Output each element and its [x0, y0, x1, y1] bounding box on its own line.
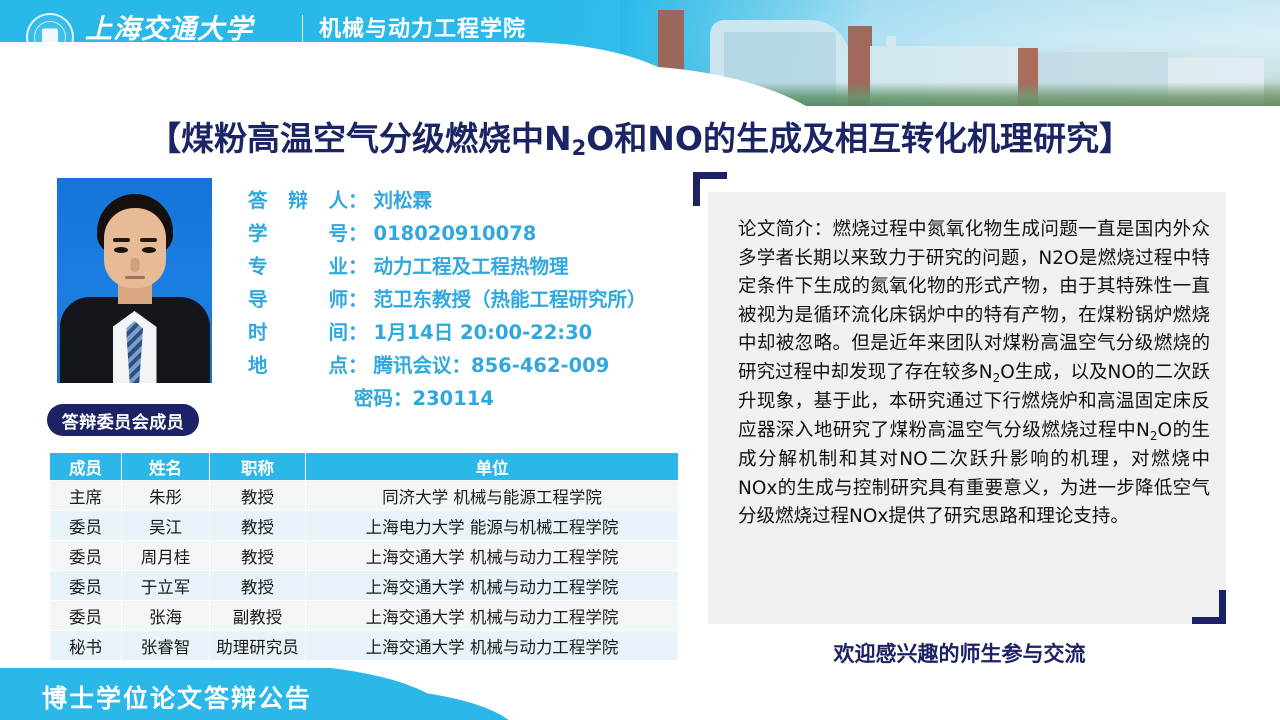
info-row-candidate: 答 辩 人 ： 刘松霖: [248, 184, 647, 217]
info-value-meeting-password: 密码：230114: [248, 382, 647, 415]
table-header-row: 成员 姓名 职称 单位: [50, 453, 679, 481]
school-name-cn: 机械与动力工程学院: [319, 18, 556, 42]
page-title: 【煤粉高温空气分级燃烧中N2O和NO的生成及相互转化机理研究】: [0, 112, 1280, 160]
table-row: 委员 吴江 教授 上海电力大学 能源与机械工程学院: [50, 511, 679, 541]
cell-title: 副教授: [210, 601, 306, 631]
info-colon: ：: [348, 283, 368, 316]
cell-name: 周月桂: [122, 541, 210, 571]
corner-bracket-top-left: [693, 172, 727, 206]
university-name-cn: 上海交通大学: [85, 16, 284, 44]
info-colon: ：: [348, 250, 368, 283]
cell-role: 秘书: [50, 631, 122, 661]
info-label-advisor: 导 师: [248, 283, 348, 316]
table-row: 主席 朱彤 教授 同济大学 机械与能源工程学院: [50, 481, 679, 511]
cell-role: 主席: [50, 481, 122, 511]
cell-unit: 上海交通大学 机械与动力工程学院: [306, 601, 679, 631]
info-value-time: 1月14日 20:00-22:30: [374, 316, 593, 349]
cell-unit: 同济大学 机械与能源工程学院: [306, 481, 679, 511]
corner-bracket-bottom-right: [1192, 590, 1226, 624]
cell-name: 吴江: [122, 511, 210, 541]
cell-title: 教授: [210, 481, 306, 511]
info-value-student-id: 018020910078: [374, 217, 537, 250]
cell-role: 委员: [50, 571, 122, 601]
defense-info-list: 答 辩 人 ： 刘松霖 学 号 ： 018020910078 专 业 ： 动力工…: [248, 184, 647, 415]
cell-role: 委员: [50, 601, 122, 631]
column-header-name: 姓名: [122, 453, 210, 481]
cell-title: 教授: [210, 541, 306, 571]
info-colon: ：: [348, 349, 368, 382]
footer-label: 博士学位论文答辩公告: [42, 679, 312, 715]
committee-table: 成员 姓名 职称 单位 主席 朱彤 教授 同济大学 机械与能源工程学院 委员 吴…: [49, 452, 679, 661]
school-name-en: SCHOOL OF MECHANICAL ENGINEERING: [319, 45, 556, 56]
info-row-time: 时 间 ： 1月14日 20:00-22:30: [248, 316, 647, 349]
info-row-location: 地 点 ： 腾讯会议：856-462-009: [248, 349, 647, 382]
info-row-student-id: 学 号 ： 018020910078: [248, 217, 647, 250]
page-footer: 博士学位论文答辩公告: [0, 668, 1280, 720]
university-wordmark: 上海交通大学 SHANGHAI JIAO TONG UNIVERSITY: [85, 16, 284, 57]
info-label-candidate: 答 辩 人: [248, 184, 348, 217]
column-header-role: 成员: [50, 453, 122, 481]
info-colon: ：: [348, 184, 368, 217]
info-colon: ：: [348, 316, 368, 349]
abstract-text: 论文简介：燃烧过程中氮氧化物生成问题一直是国内外众多学者长期以来致力于研究的问题…: [738, 216, 1210, 532]
cell-unit: 上海交通大学 机械与动力工程学院: [306, 631, 679, 661]
footer-banner-shape-secondary: [330, 688, 520, 720]
info-label-location: 地 点: [248, 349, 348, 382]
cell-role: 委员: [50, 541, 122, 571]
title-prefix: 【煤粉高温空气分级燃烧中N: [148, 119, 572, 158]
cell-unit: 上海交通大学 机械与动力工程学院: [306, 541, 679, 571]
info-row-advisor: 导 师 ： 范卫东教授（热能工程研究所）: [248, 283, 647, 316]
logo-divider: [302, 15, 303, 59]
candidate-portrait-photo: [57, 178, 212, 383]
cell-name: 张睿智: [122, 631, 210, 661]
cell-unit: 上海交通大学 机械与动力工程学院: [306, 571, 679, 601]
sjtu-logo-block: 上海交通大学 SHANGHAI JIAO TONG UNIVERSITY 机械与…: [26, 11, 556, 63]
info-value-candidate: 刘松霖: [374, 184, 433, 217]
sjtu-seal-icon: [26, 13, 74, 61]
university-name-en: SHANGHAI JIAO TONG UNIVERSITY: [85, 47, 284, 58]
info-colon: ：: [348, 217, 368, 250]
cell-name: 张海: [122, 601, 210, 631]
cell-name: 于立军: [122, 571, 210, 601]
info-row-major: 专 业 ： 动力工程及工程热物理: [248, 250, 647, 283]
school-wordmark: 机械与动力工程学院 SCHOOL OF MECHANICAL ENGINEERI…: [319, 18, 556, 56]
table-row: 秘书 张睿智 助理研究员 上海交通大学 机械与动力工程学院: [50, 631, 679, 661]
table-row: 委员 周月桂 教授 上海交通大学 机械与动力工程学院: [50, 541, 679, 571]
page-header: 上海交通大学 SHANGHAI JIAO TONG UNIVERSITY 机械与…: [0, 0, 1280, 106]
committee-badge: 答辩委员会成员: [47, 404, 199, 436]
cell-title: 教授: [210, 571, 306, 601]
column-header-title: 职称: [210, 453, 306, 481]
table-row: 委员 张海 副教授 上海交通大学 机械与动力工程学院: [50, 601, 679, 631]
cell-title: 教授: [210, 511, 306, 541]
abstract-panel: 论文简介：燃烧过程中氮氧化物生成问题一直是国内外众多学者长期以来致力于研究的问题…: [693, 172, 1226, 624]
column-header-unit: 单位: [306, 453, 679, 481]
title-subscript: 2: [572, 136, 587, 160]
abstract-subscript-2: 2: [1150, 429, 1158, 443]
title-suffix: O和NO的生成及相互转化机理研究】: [586, 119, 1132, 158]
table-row: 委员 于立军 教授 上海交通大学 机械与动力工程学院: [50, 571, 679, 601]
cell-unit: 上海电力大学 能源与机械工程学院: [306, 511, 679, 541]
info-value-major: 动力工程及工程热物理: [374, 250, 569, 283]
info-label-time: 时 间: [248, 316, 348, 349]
abstract-panel-background: 论文简介：燃烧过程中氮氧化物生成问题一直是国内外众多学者长期以来致力于研究的问题…: [708, 192, 1226, 624]
info-value-location: 腾讯会议：856-462-009: [374, 349, 610, 382]
welcome-message: 欢迎感兴趣的师生参与交流: [693, 638, 1226, 668]
info-label-major: 专 业: [248, 250, 348, 283]
cell-role: 委员: [50, 511, 122, 541]
info-label-student-id: 学 号: [248, 217, 348, 250]
abstract-subscript-1: 2: [993, 371, 1001, 385]
cell-title: 助理研究员: [210, 631, 306, 661]
abstract-part-1: 论文简介：燃烧过程中氮氧化物生成问题一直是国内外众多学者长期以来致力于研究的问题…: [738, 219, 1210, 383]
cell-name: 朱彤: [122, 481, 210, 511]
info-value-advisor: 范卫东教授（热能工程研究所）: [374, 283, 647, 316]
